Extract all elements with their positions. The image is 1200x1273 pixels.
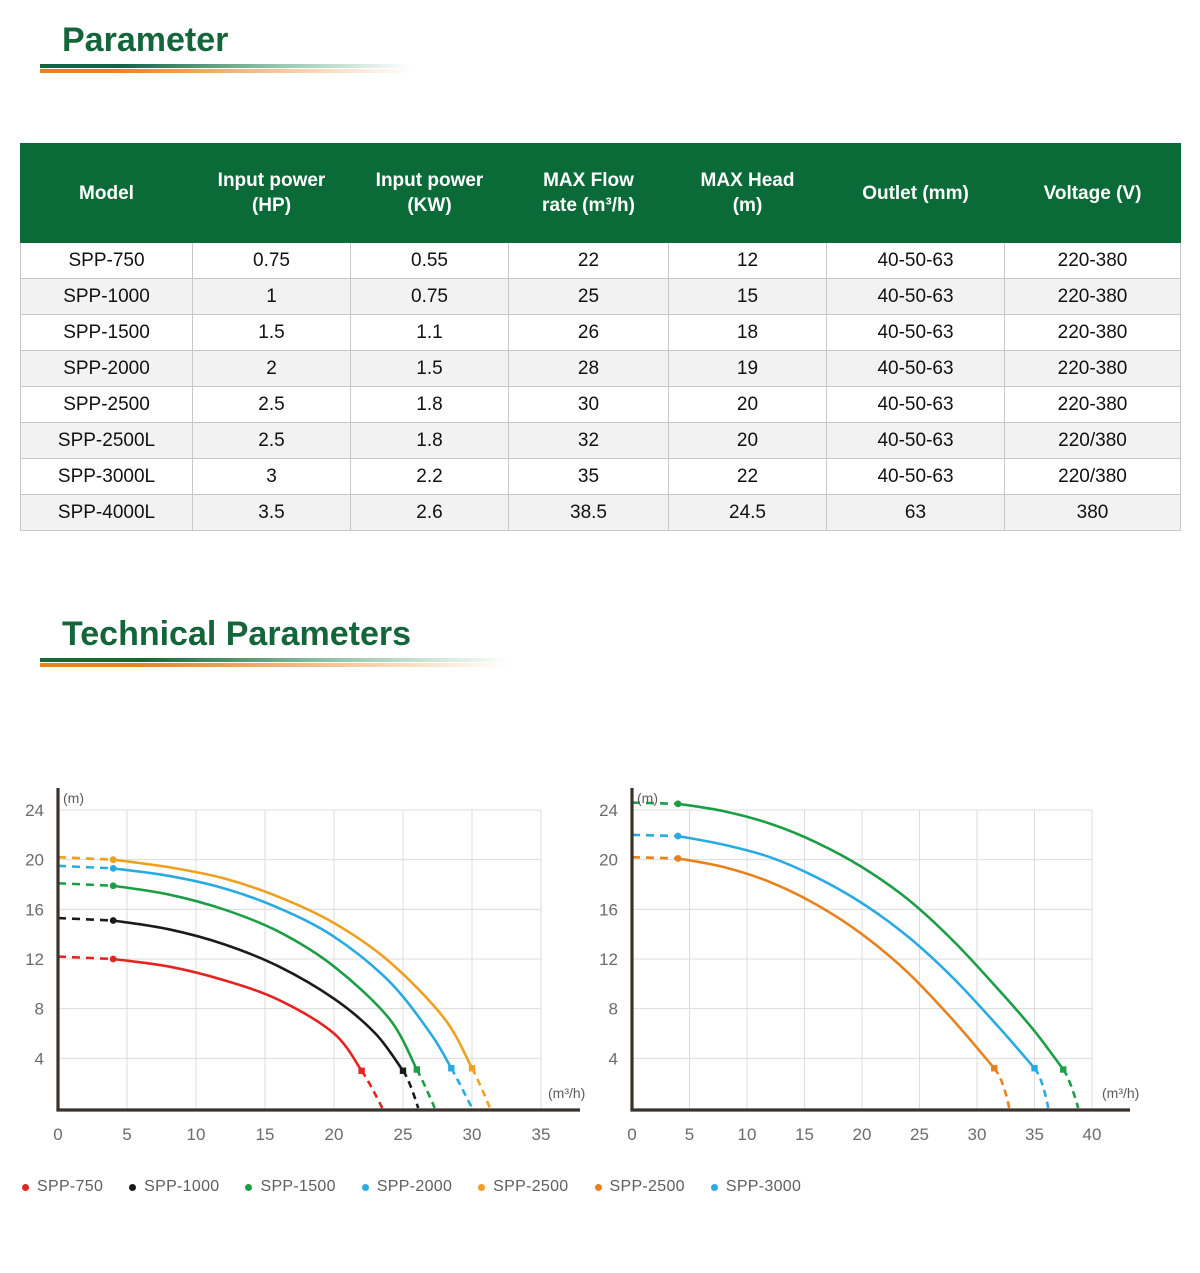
x-tick-label: 10	[738, 1125, 757, 1144]
x-tick-label: 15	[256, 1125, 275, 1144]
x-axis-unit-label: (m³/h)	[1102, 1085, 1139, 1101]
table-cell: 40-50-63	[827, 279, 1005, 315]
table-header-cell-6: Voltage (V)	[1005, 144, 1181, 243]
series-start-marker	[675, 833, 682, 840]
table-cell: 24.5	[669, 495, 827, 531]
model-cell: SPP-4000L	[21, 495, 193, 531]
legend-dot-icon	[245, 1184, 252, 1191]
chart-pump-curve-1: 481216202405101520253035(m)(m³/h)	[0, 770, 600, 1150]
header-line: Model	[27, 181, 186, 206]
model-cell: SPP-2000	[21, 351, 193, 387]
chart-legend: SPP-750SPP-1000SPP-1500SPP-2000SPP-2500S…	[22, 1178, 827, 1196]
series-tail-dashed	[994, 1068, 1009, 1108]
series-tail-dashed	[362, 1071, 383, 1108]
series-end-marker	[1060, 1066, 1066, 1072]
series-end-marker	[448, 1065, 454, 1071]
table-cell: 40-50-63	[827, 315, 1005, 351]
heading-rule-orange	[40, 663, 510, 667]
x-axis-unit-label: (m³/h)	[548, 1085, 585, 1101]
table-cell: 40-50-63	[827, 423, 1005, 459]
page-title: Parameter	[40, 18, 412, 62]
header-line: (HP)	[199, 193, 344, 218]
y-tick-label: 20	[599, 851, 618, 870]
table-cell: 18	[669, 315, 827, 351]
table-row: SPP-100010.75251540-50-63220-380	[21, 279, 1181, 315]
series-tail-dashed	[472, 1068, 490, 1108]
legend-label: SPP-2500	[493, 1178, 568, 1196]
legend-item[interactable]: SPP-750	[22, 1178, 103, 1196]
y-tick-label: 24	[25, 801, 44, 820]
y-axis-unit-label: (m)	[637, 790, 658, 806]
y-tick-label: 4	[609, 1049, 618, 1068]
y-tick-label: 12	[25, 950, 44, 969]
table-cell: 220-380	[1005, 387, 1181, 423]
table-cell: 28	[509, 351, 669, 387]
heading-rule-green	[40, 64, 412, 68]
table-cell: 1.5	[351, 351, 509, 387]
table-cell: 3	[193, 459, 351, 495]
series-lead-dashed	[58, 883, 113, 885]
legend-item[interactable]: SPP-1000	[129, 1178, 219, 1196]
table-cell: 40-50-63	[827, 243, 1005, 279]
model-cell: SPP-750	[21, 243, 193, 279]
table-cell: 220-380	[1005, 243, 1181, 279]
series-end-marker	[414, 1066, 420, 1072]
table-cell: 0.55	[351, 243, 509, 279]
series-start-marker	[110, 917, 117, 924]
table-row: SPP-3000L32.2352240-50-63220/380	[21, 459, 1181, 495]
chart-axes	[56, 788, 580, 1110]
x-tick-label: 40	[1083, 1125, 1102, 1144]
x-tick-label: 10	[187, 1125, 206, 1144]
y-tick-label: 16	[599, 900, 618, 919]
table-header-cell-1: Input power(HP)	[193, 144, 351, 243]
table-row: SPP-25002.51.8302040-50-63220-380	[21, 387, 1181, 423]
table-header-cell-2: Input power(KW)	[351, 144, 509, 243]
technical-section-heading: Technical Parameters	[40, 612, 510, 667]
table-cell: 40-50-63	[827, 387, 1005, 423]
header-line: MAX Head	[675, 168, 820, 193]
y-tick-label: 8	[35, 1000, 44, 1019]
table-header-row: ModelInput power(HP)Input power(KW)MAX F…	[21, 144, 1181, 243]
series-start-marker	[675, 855, 682, 862]
series-end-marker	[991, 1065, 997, 1071]
legend-dot-icon	[595, 1184, 602, 1191]
technical-title: Technical Parameters	[40, 612, 510, 656]
header-line: Outlet (mm)	[833, 181, 998, 206]
table-cell: 38.5	[509, 495, 669, 531]
chart-gridlines	[632, 810, 1092, 1108]
series-end-marker	[358, 1068, 364, 1074]
legend-label: SPP-2000	[377, 1178, 452, 1196]
table-row: SPP-200021.5281940-50-63220-380	[21, 351, 1181, 387]
legend-item[interactable]: SPP-2500	[595, 1178, 685, 1196]
table-header-cell-4: MAX Head(m)	[669, 144, 827, 243]
series-tail-dashed	[1035, 1068, 1049, 1108]
table-cell: 3.5	[193, 495, 351, 531]
x-tick-label: 35	[532, 1125, 551, 1144]
legend-label: SPP-750	[37, 1178, 103, 1196]
table-cell: 0.75	[351, 279, 509, 315]
series-start-marker	[110, 882, 117, 889]
model-cell: SPP-2500	[21, 387, 193, 423]
series-lead-dashed	[58, 866, 113, 868]
parameter-table-container: ModelInput power(HP)Input power(KW)MAX F…	[20, 143, 1180, 531]
x-tick-label: 30	[463, 1125, 482, 1144]
header-line: MAX Flow	[515, 168, 662, 193]
y-tick-label: 24	[599, 801, 618, 820]
legend-dot-icon	[478, 1184, 485, 1191]
table-cell: 35	[509, 459, 669, 495]
x-tick-label: 25	[910, 1125, 929, 1144]
header-line: Input power	[199, 168, 344, 193]
header-line: Voltage (V)	[1011, 181, 1174, 206]
table-cell: 1.8	[351, 423, 509, 459]
chart-series-spp-3000	[632, 800, 1078, 1108]
legend-dot-icon	[711, 1184, 718, 1191]
table-cell: 32	[509, 423, 669, 459]
series-lead-dashed	[58, 918, 113, 920]
series-tail-dashed	[417, 1070, 435, 1108]
legend-dot-icon	[362, 1184, 369, 1191]
series-lead-dashed	[632, 835, 678, 836]
parameter-table: ModelInput power(HP)Input power(KW)MAX F…	[20, 143, 1181, 531]
table-cell: 12	[669, 243, 827, 279]
table-cell: 22	[669, 459, 827, 495]
chart-series-spp-1500	[58, 882, 435, 1108]
header-line: (m)	[675, 193, 820, 218]
table-header-cell-0: Model	[21, 144, 193, 243]
chart-series-spp-2500	[632, 833, 1048, 1108]
table-cell: 380	[1005, 495, 1181, 531]
legend-dot-icon	[129, 1184, 136, 1191]
chart-canvas: 481216202405101520253035(m)(m³/h)	[0, 770, 600, 1150]
table-cell: 40-50-63	[827, 459, 1005, 495]
legend-item[interactable]: SPP-3000	[711, 1178, 801, 1196]
x-tick-label: 5	[685, 1125, 694, 1144]
series-curve	[113, 921, 403, 1071]
table-cell: 2	[193, 351, 351, 387]
model-cell: SPP-1000	[21, 279, 193, 315]
series-start-marker	[110, 956, 117, 963]
chart-series-spp-2500	[58, 856, 490, 1108]
table-cell: 2.6	[351, 495, 509, 531]
model-cell: SPP-1500	[21, 315, 193, 351]
table-cell: 2.5	[193, 387, 351, 423]
table-cell: 20	[669, 423, 827, 459]
y-axis-unit-label: (m)	[63, 790, 84, 806]
table-cell: 220/380	[1005, 423, 1181, 459]
series-tail-dashed	[1063, 1070, 1078, 1108]
table-header-cell-5: Outlet (mm)	[827, 144, 1005, 243]
parameter-section-heading: Parameter	[40, 18, 412, 73]
series-tail-dashed	[403, 1071, 418, 1108]
series-curve	[678, 858, 994, 1068]
x-tick-label: 30	[968, 1125, 987, 1144]
table-body: SPP-7500.750.55221240-50-63220-380SPP-10…	[21, 243, 1181, 531]
legend-item[interactable]: SPP-1500	[245, 1178, 335, 1196]
chart-pump-curve-2: 48121620240510152025303540(m)(m³/h)	[590, 770, 1200, 1150]
series-end-marker	[1031, 1065, 1037, 1071]
table-row: SPP-15001.51.1261840-50-63220-380	[21, 315, 1181, 351]
x-tick-label: 20	[325, 1125, 344, 1144]
x-tick-label: 0	[53, 1125, 62, 1144]
series-curve	[113, 959, 361, 1071]
table-header-cell-3: MAX Flowrate (m³/h)	[509, 144, 669, 243]
x-tick-label: 35	[1025, 1125, 1044, 1144]
table-cell: 25	[509, 279, 669, 315]
table-header: ModelInput power(HP)Input power(KW)MAX F…	[21, 144, 1181, 243]
series-start-marker	[675, 800, 682, 807]
table-cell: 1	[193, 279, 351, 315]
x-tick-label: 5	[122, 1125, 131, 1144]
table-cell: 2.5	[193, 423, 351, 459]
performance-charts: 481216202405101520253035(m)(m³/h) 481216…	[0, 770, 1200, 1170]
legend-label: SPP-3000	[726, 1178, 801, 1196]
table-cell: 30	[509, 387, 669, 423]
table-cell: 0.75	[193, 243, 351, 279]
table-cell: 26	[509, 315, 669, 351]
table-cell: 220-380	[1005, 351, 1181, 387]
table-cell: 2.2	[351, 459, 509, 495]
table-cell: 220-380	[1005, 279, 1181, 315]
legend-item[interactable]: SPP-2500	[478, 1178, 568, 1196]
legend-dot-icon	[22, 1184, 29, 1191]
table-cell: 19	[669, 351, 827, 387]
x-tick-label: 25	[394, 1125, 413, 1144]
series-curve	[678, 836, 1035, 1068]
series-tail-dashed	[451, 1068, 472, 1108]
table-cell: 63	[827, 495, 1005, 531]
table-cell: 22	[509, 243, 669, 279]
series-start-marker	[110, 865, 117, 872]
table-cell: 15	[669, 279, 827, 315]
table-row: SPP-2500L2.51.8322040-50-63220/380	[21, 423, 1181, 459]
table-cell: 1.1	[351, 315, 509, 351]
table-cell: 220-380	[1005, 315, 1181, 351]
series-curve	[678, 804, 1063, 1070]
series-start-marker	[110, 856, 117, 863]
y-tick-label: 8	[609, 1000, 618, 1019]
legend-label: SPP-1500	[260, 1178, 335, 1196]
heading-rule-green	[40, 658, 510, 662]
series-curve	[113, 860, 472, 1069]
model-cell: SPP-3000L	[21, 459, 193, 495]
model-cell: SPP-2500L	[21, 423, 193, 459]
legend-item[interactable]: SPP-2000	[362, 1178, 452, 1196]
series-lead-dashed	[632, 857, 678, 858]
table-cell: 1.8	[351, 387, 509, 423]
header-line: (KW)	[357, 193, 502, 218]
chart-canvas: 48121620240510152025303540(m)(m³/h)	[590, 770, 1200, 1150]
y-tick-label: 20	[25, 851, 44, 870]
table-cell: 40-50-63	[827, 351, 1005, 387]
legend-label: SPP-1000	[144, 1178, 219, 1196]
header-line: rate (m³/h)	[515, 193, 662, 218]
table-row: SPP-7500.750.55221240-50-63220-380	[21, 243, 1181, 279]
legend-label: SPP-2500	[610, 1178, 685, 1196]
y-tick-label: 4	[35, 1049, 44, 1068]
heading-rule-orange	[40, 69, 412, 73]
series-end-marker	[400, 1068, 406, 1074]
y-tick-label: 12	[599, 950, 618, 969]
table-cell: 220/380	[1005, 459, 1181, 495]
x-tick-label: 15	[795, 1125, 814, 1144]
chart-series-spp-1000	[58, 917, 418, 1108]
series-end-marker	[469, 1065, 475, 1071]
table-cell: 20	[669, 387, 827, 423]
x-tick-label: 0	[627, 1125, 636, 1144]
table-cell: 1.5	[193, 315, 351, 351]
chart-series-spp-2500	[632, 855, 1009, 1108]
header-line: Input power	[357, 168, 502, 193]
y-tick-label: 16	[25, 900, 44, 919]
x-tick-label: 20	[853, 1125, 872, 1144]
table-row: SPP-4000L3.52.638.524.563380	[21, 495, 1181, 531]
